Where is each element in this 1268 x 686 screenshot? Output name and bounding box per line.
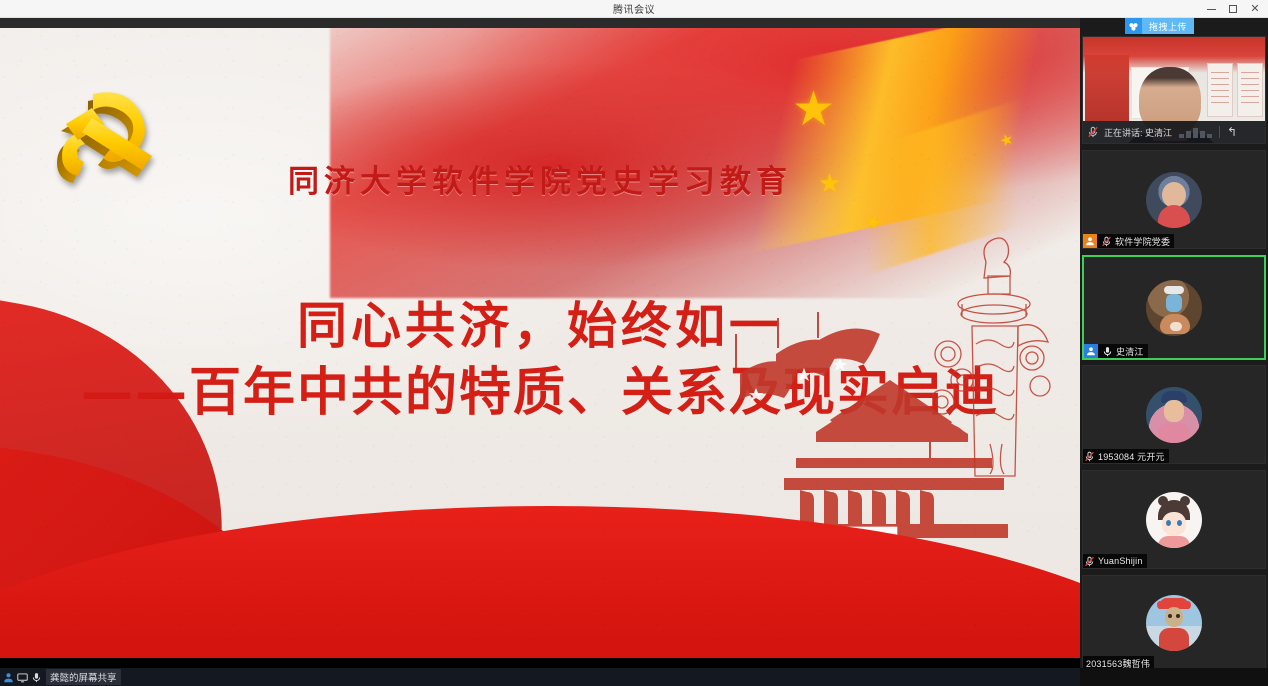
minimize-button[interactable] (1200, 0, 1222, 18)
cloud-upload-icon (1125, 18, 1142, 34)
participant-tile-active[interactable]: 史清江 (1082, 255, 1266, 360)
participant-namebar: YuanShijin (1083, 554, 1147, 568)
avatar (1146, 387, 1202, 443)
meeting-stage: ★ ★ ★ ★ (0, 18, 1268, 686)
mic-muted-icon[interactable] (1100, 234, 1112, 248)
participant-tile[interactable]: 软件学院党委 (1082, 150, 1266, 249)
screen-share-label[interactable]: 龚懿的屏幕共享 (46, 669, 121, 685)
feed-poster-1 (1207, 63, 1233, 117)
mic-icon[interactable] (31, 672, 42, 683)
participant-name: 软件学院党委 (1115, 235, 1170, 248)
participant-tile[interactable]: YuanShijin (1082, 470, 1266, 569)
taskbar-icons (3, 672, 42, 683)
audio-level-meter (1179, 127, 1212, 138)
host-badge (1083, 234, 1097, 248)
monitor-icon[interactable] (17, 672, 28, 683)
avatar (1146, 172, 1202, 228)
mic-muted-icon[interactable] (1083, 554, 1095, 568)
rail-bottom-filler (1080, 668, 1268, 686)
mic-muted-icon[interactable] (1087, 125, 1099, 139)
avatar (1146, 595, 1202, 651)
participant-name: 1953084 元开元 (1098, 450, 1165, 463)
user-icon[interactable] (3, 672, 14, 683)
drag-upload-button[interactable]: 拖拽上传 (1125, 18, 1194, 34)
window-title-bar: 腾讯会议 ✕ (0, 0, 1268, 18)
speakbar-divider (1219, 126, 1220, 138)
participant-tile[interactable]: 1953084 元开元 (1082, 365, 1266, 464)
shared-screen-area[interactable]: ★ ★ ★ ★ (0, 18, 1080, 668)
feed-poster-2 (1237, 63, 1263, 117)
participant-tile[interactable]: 2031563魏哲伟 (1082, 575, 1266, 671)
slide-subtitle: 同济大学软件学院党史学习教育 (0, 156, 1080, 201)
avatar (1146, 280, 1202, 336)
window-controls: ✕ (1200, 0, 1266, 18)
avatar (1146, 492, 1202, 548)
return-to-list-icon[interactable]: ↰ (1227, 126, 1237, 138)
active-speaker-bar: 正在讲话: 史清江 ↰ (1083, 121, 1265, 143)
participant-namebar: 史清江 (1084, 344, 1148, 358)
share-area-bottom-edge (0, 658, 1080, 668)
mic-on-icon[interactable] (1101, 344, 1113, 358)
participant-namebar: 软件学院党委 (1083, 234, 1174, 248)
window-title: 腾讯会议 (613, 1, 655, 16)
feed-backdrop-left (1085, 55, 1129, 121)
close-icon: ✕ (1250, 4, 1259, 15)
participant-namebar: 1953084 元开元 (1083, 449, 1169, 463)
participant-name: YuanShijin (1098, 556, 1143, 566)
participant-tile-speaker[interactable]: 正在讲话: 史清江 ↰ (1082, 36, 1266, 144)
minimize-icon (1207, 9, 1216, 10)
maximize-icon (1229, 5, 1237, 13)
participant-name: 史清江 (1116, 345, 1144, 358)
presentation-slide: ★ ★ ★ ★ (0, 28, 1080, 658)
speaker-video-feed: 正在讲话: 史清江 ↰ (1083, 37, 1265, 143)
close-button[interactable]: ✕ (1244, 0, 1266, 18)
flag-star-large: ★ (792, 86, 835, 134)
participant-rail: 拖拽上传 (1080, 18, 1268, 686)
maximize-button[interactable] (1222, 0, 1244, 18)
active-speaker-label: 正在讲话: 史清江 (1104, 126, 1172, 139)
drag-upload-label: 拖拽上传 (1142, 18, 1194, 34)
mic-muted-icon[interactable] (1083, 449, 1095, 463)
avatar-wrapper (1084, 257, 1264, 358)
screen-share-taskbar: 龚懿的屏幕共享 (0, 668, 1080, 686)
host-badge-blue (1084, 344, 1098, 358)
